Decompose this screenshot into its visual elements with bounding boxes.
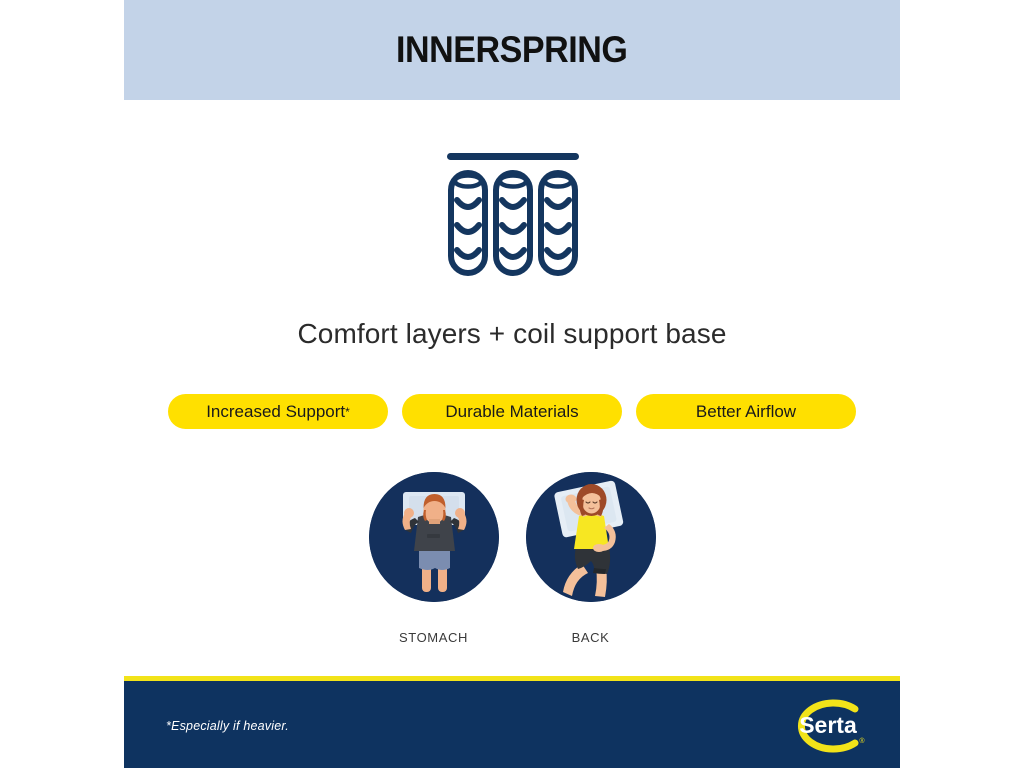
- infographic-page: INNERSPRING: [0, 0, 1024, 768]
- sleep-position-label: BACK: [572, 630, 610, 645]
- feature-pill-durable-materials[interactable]: Durable Materials: [402, 394, 622, 429]
- svg-text:Serta: Serta: [799, 712, 857, 738]
- feature-pill-increased-support[interactable]: Increased Support*: [168, 394, 388, 429]
- sleep-positions-row: STOMACH: [124, 472, 900, 645]
- serta-logo: Serta ®: [792, 697, 868, 755]
- feature-pill-label: Increased Support: [206, 402, 345, 422]
- header-band: INNERSPRING: [124, 0, 900, 100]
- coil-springs-icon: [437, 145, 589, 285]
- feature-pill-better-airflow[interactable]: Better Airflow: [636, 394, 856, 429]
- feature-pill-row: Increased Support* Durable Materials Bet…: [124, 394, 900, 429]
- svg-text:®: ®: [859, 737, 865, 745]
- sleep-position-stomach[interactable]: STOMACH: [369, 472, 499, 645]
- sleep-position-back[interactable]: BACK: [526, 472, 656, 645]
- feature-pill-label: Better Airflow: [696, 402, 796, 422]
- stomach-sleeper-circle: [369, 472, 499, 602]
- page-title: INNERSPRING: [396, 29, 627, 71]
- footer-bar: *Especially if heavier. Serta ®: [124, 676, 900, 768]
- sleep-position-label: STOMACH: [399, 630, 468, 645]
- back-sleeper-circle: [526, 472, 656, 602]
- tagline: Comfort layers + coil support base: [124, 318, 900, 350]
- footnote-text: *Especially if heavier.: [166, 719, 289, 733]
- feature-pill-label: Durable Materials: [445, 402, 578, 422]
